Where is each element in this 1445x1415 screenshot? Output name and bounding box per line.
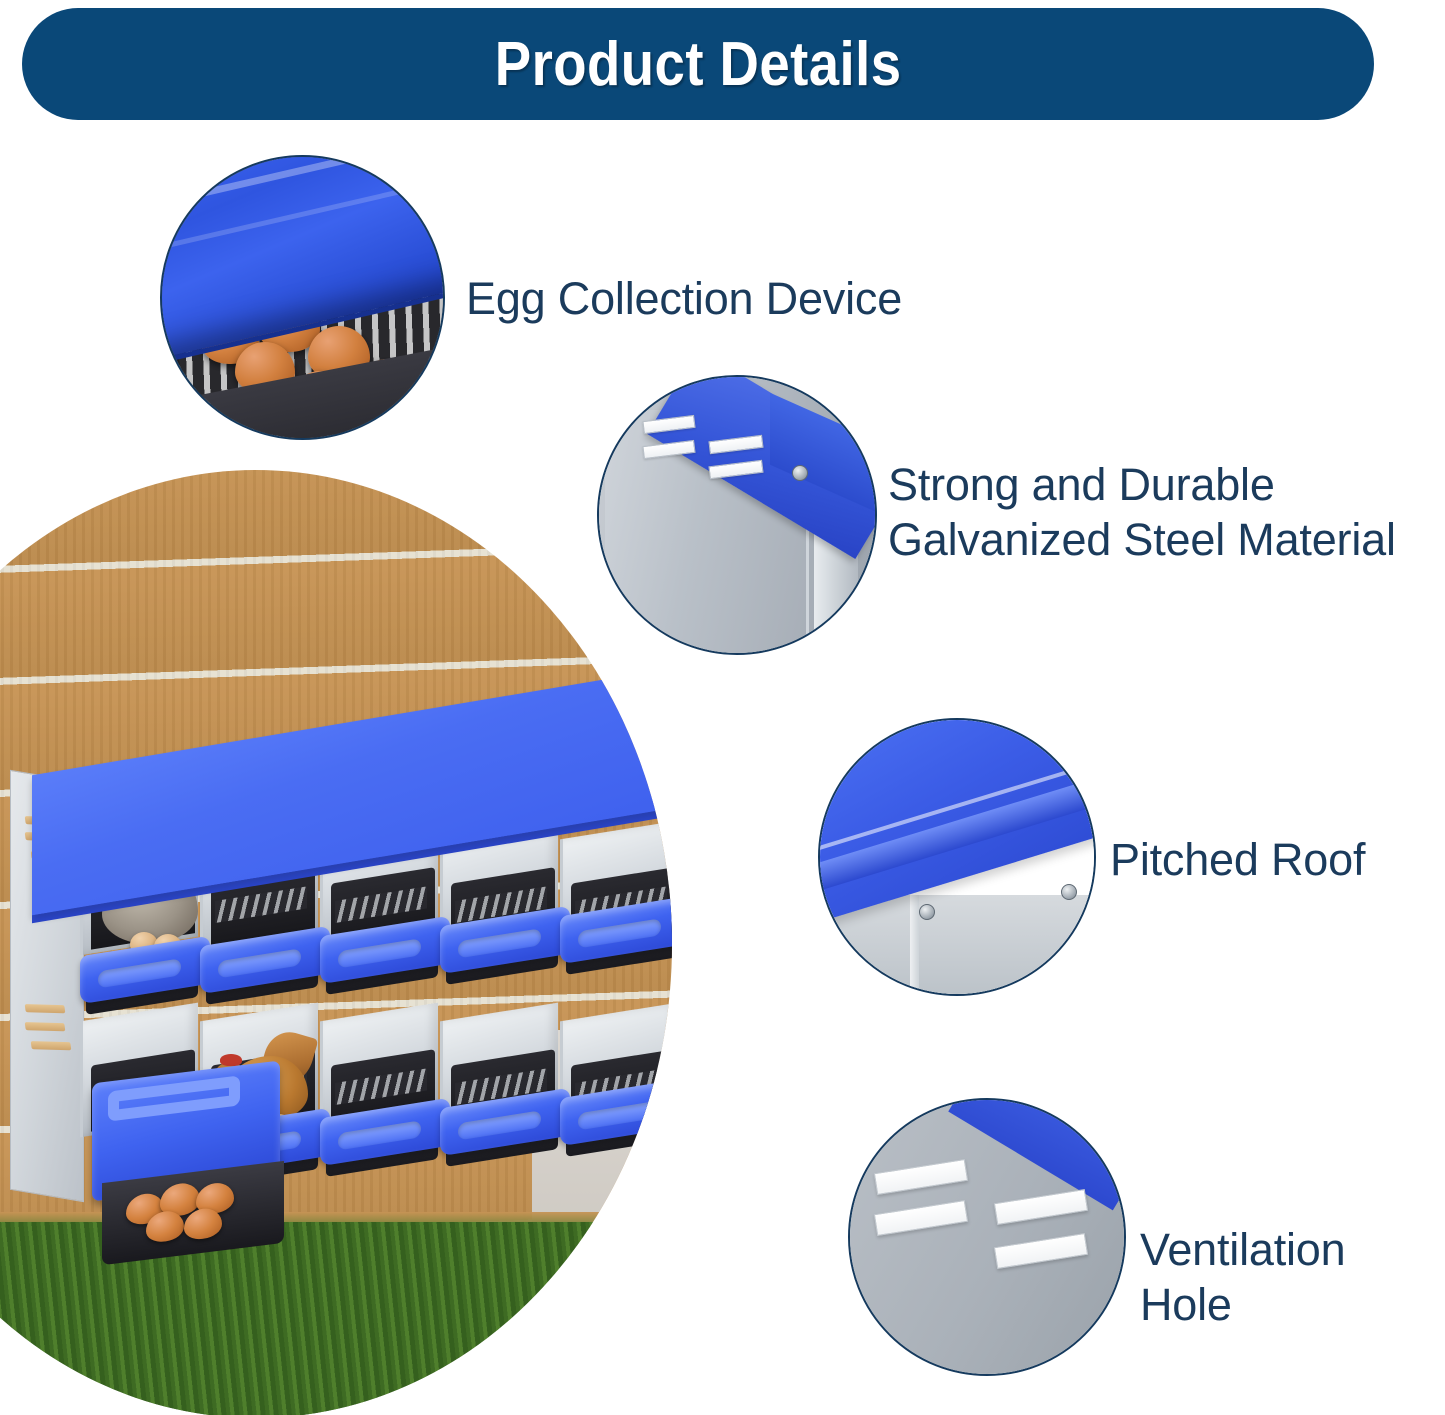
callout-label-galvanized-steel: Strong and Durable Galvanized Steel Mate…	[888, 458, 1396, 568]
steel-body-panel	[818, 895, 1096, 994]
galvanized-steel-circle	[597, 375, 877, 655]
callout-label-egg-collection: Egg Collection Device	[466, 272, 902, 327]
pitched-roof-circle	[818, 718, 1096, 996]
hen-comb	[220, 1054, 242, 1066]
ventilation-slot	[25, 1004, 66, 1013]
ventilation-hole-circle	[848, 1098, 1126, 1376]
egg-collection-illustration	[162, 157, 443, 438]
ventilation-slot	[25, 1022, 66, 1031]
egg-collection-circle	[160, 155, 445, 440]
page-title: Product Details	[495, 29, 902, 100]
product-details-infographic: Product Details	[0, 0, 1445, 1415]
galvanized-steel-illustration	[599, 377, 875, 653]
callout-label-ventilation-hole: Ventilation Hole	[1140, 1223, 1445, 1333]
ventilation-hole-illustration	[850, 1100, 1124, 1374]
roof-screw	[919, 904, 935, 920]
drawer-handle	[108, 1075, 240, 1121]
ventilation-slot	[31, 1041, 72, 1050]
header-banner: Product Details	[22, 8, 1374, 120]
nesting-box	[10, 720, 730, 1280]
pitched-roof-illustration	[820, 720, 1094, 994]
callout-label-pitched-roof: Pitched Roof	[1110, 833, 1365, 888]
